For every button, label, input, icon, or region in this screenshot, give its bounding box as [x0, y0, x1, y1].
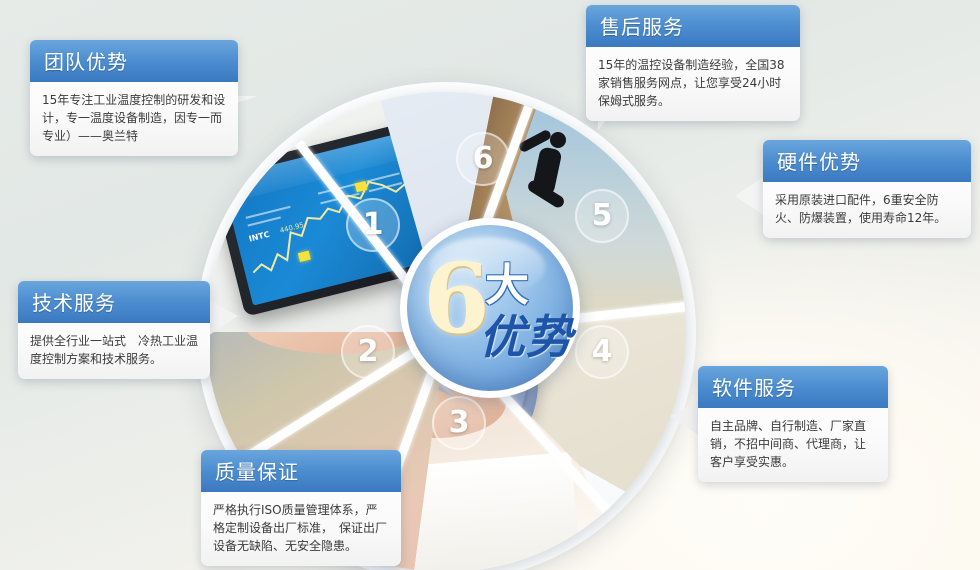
callout-body-after-sales: 15年的温控设备制造经验，全国38家销售服务网点，让您享受24小时保姆式服务。: [586, 47, 800, 121]
callout-software[interactable]: 软件服务 自主品牌、自行制造、厂家直销，不招中间商、代理商，让客户享受实惠。: [698, 366, 888, 482]
callout-title-technical: 技术服务: [18, 281, 210, 323]
callout-title-software: 软件服务: [698, 366, 888, 408]
hub-circle[interactable]: 6 大 优势: [407, 225, 573, 391]
marker-3[interactable]: 3: [432, 396, 486, 450]
infographic-canvas: INTC 440.95: [0, 0, 980, 570]
marker-1[interactable]: 1: [346, 198, 400, 252]
marker-6[interactable]: 6: [456, 132, 510, 186]
callout-body-quality: 严格执行ISO质量管理体系，严格定制设备出厂标准， 保证出厂设备无缺陷、无安全隐…: [201, 492, 401, 566]
marker-2[interactable]: 2: [341, 325, 395, 379]
callout-title-hardware: 硬件优势: [763, 140, 971, 182]
callout-technical[interactable]: 技术服务 提供全行业一站式 冷热工业温度控制方案和技术服务。: [18, 281, 210, 379]
callout-tail-technical: [208, 300, 238, 336]
callout-after-sales[interactable]: 售后服务 15年的温控设备制造经验，全国38家销售服务网点，让您享受24小时保姆…: [586, 5, 800, 121]
callout-title-team: 团队优势: [30, 40, 238, 82]
marker-4[interactable]: 4: [575, 325, 629, 379]
callout-body-software: 自主品牌、自行制造、厂家直销，不招中间商、代理商，让客户享受实惠。: [698, 408, 888, 482]
callout-tail-hardware: [735, 176, 765, 216]
callout-title-quality: 质量保证: [201, 450, 401, 492]
callout-team[interactable]: 团队优势 15年专注工业温度控制的研发和设计，专一温度设备制造，因专一而专业）—…: [30, 40, 238, 156]
marker-5[interactable]: 5: [575, 189, 629, 243]
hub-script-text: 优势: [479, 301, 573, 367]
callout-body-technical: 提供全行业一站式 冷热工业温度控制方案和技术服务。: [18, 323, 210, 379]
callout-body-hardware: 采用原装进口配件，6重安全防火、防爆装置，使用寿命12年。: [763, 182, 971, 238]
callout-hardware[interactable]: 硬件优势 采用原装进口配件，6重安全防火、防爆装置，使用寿命12年。: [763, 140, 971, 238]
callout-body-team: 15年专注工业温度控制的研发和设计，专一温度设备制造，因专一而专业）——奥兰特: [30, 82, 238, 156]
callout-quality[interactable]: 质量保证 严格执行ISO质量管理体系，严格定制设备出厂标准， 保证出厂设备无缺陷…: [201, 450, 401, 566]
callout-tail-software: [670, 400, 700, 436]
callout-title-after-sales: 售后服务: [586, 5, 800, 47]
